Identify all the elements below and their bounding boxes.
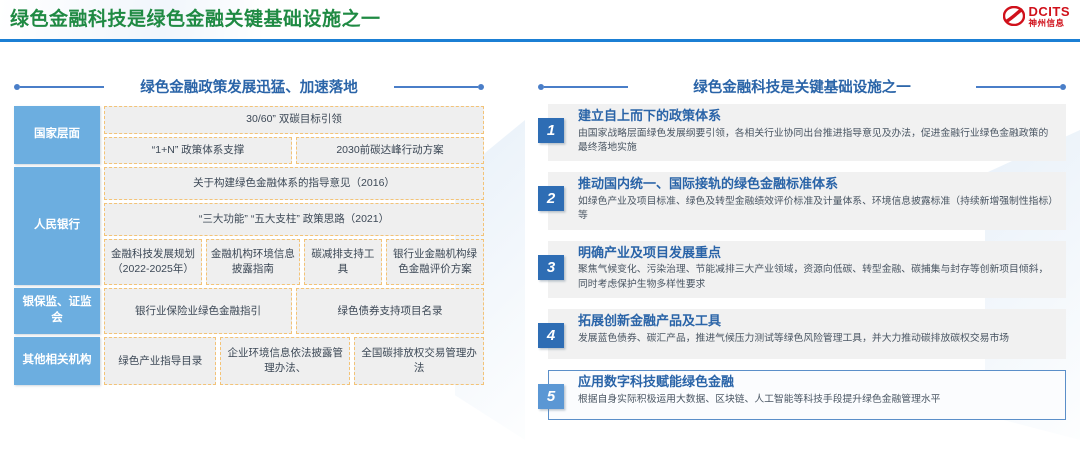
policy-table-row: 银保监、证监会银行业保险业绿色金融指引绿色债券支持项目名录 (14, 288, 484, 334)
item-number-badge: 2 (538, 186, 564, 211)
brand-logo: DCITS 神州信息 (1003, 5, 1071, 28)
policy-cell[interactable]: 银行业保险业绿色金融指引 (104, 288, 292, 334)
line-icon (20, 86, 104, 88)
item-text: 拓展创新金融产品及工具发展蓝色债券、碳汇产品，推进气候压力测试等绿色风险管理工具… (574, 309, 1066, 352)
policy-subrow: “三大功能” “五大支柱” 政策思路（2021） (104, 203, 484, 236)
item-number-badge: 1 (538, 118, 564, 143)
item-description: 根据自身实际积极运用大数据、区块链、人工智能等科技手段提升绿色金融管理水平 (578, 393, 1056, 407)
header-decoration-right (372, 84, 484, 90)
policy-table-row: 国家层面30/60” 双碳目标引领“1+N” 政策体系支撑2030前碳达峰行动方… (14, 106, 484, 164)
policy-row-label: 银保监、证监会 (14, 288, 100, 334)
right-panel-title: 绿色金融科技是关键基础设施之一 (679, 76, 925, 97)
infrastructure-list: 1建立自上而下的政策体系由国家战略层面绿色发展纲要引领，各相关行业协同出台推进指… (538, 104, 1066, 431)
policy-row-body: 银行业保险业绿色金融指引绿色债券支持项目名录 (104, 288, 484, 334)
policy-subrow: “1+N” 政策体系支撑2030前碳达峰行动方案 (104, 137, 484, 165)
policy-subrow: 30/60” 双碳目标引领 (104, 106, 484, 134)
policy-cell[interactable]: 全国碳排放权交易管理办法 (354, 337, 484, 385)
policy-cell[interactable]: 关于构建绿色金融体系的指导意见（2016） (104, 167, 484, 200)
left-panel-title: 绿色金融政策发展迅猛、加速落地 (126, 76, 372, 97)
item-title: 拓展创新金融产品及工具 (578, 313, 1056, 330)
item-description: 聚焦气候变化、污染治理、节能减排三大产业领域，资源向低碳、转型金融、碳捕集与封存… (578, 263, 1056, 291)
policy-cell[interactable]: 银行业金融机构绿色金融评价方案 (386, 239, 484, 285)
policy-table: 国家层面30/60” 双碳目标引领“1+N” 政策体系支撑2030前碳达峰行动方… (14, 106, 484, 388)
item-title: 应用数字科技赋能绿色金融 (578, 374, 1056, 391)
policy-cell[interactable]: “1+N” 政策体系支撑 (104, 137, 292, 165)
policy-subrow: 金融科技发展规划（2022-2025年）金融机构环境信息披露指南碳减排支持工具银… (104, 239, 484, 285)
dcits-swoosh-icon (1003, 6, 1025, 26)
policy-subrow: 关于构建绿色金融体系的指导意见（2016） (104, 167, 484, 200)
policy-cell[interactable]: 碳减排支持工具 (304, 239, 382, 285)
item-text: 建立自上而下的政策体系由国家战略层面绿色发展纲要引领，各相关行业协同出台推进指导… (574, 104, 1066, 161)
infrastructure-item[interactable]: 2推动国内统一、国际接轨的绿色金融标准体系如绿色产业及项目标准、绿色及转型金融绩… (538, 172, 1066, 229)
item-title: 推动国内统一、国际接轨的绿色金融标准体系 (578, 176, 1056, 193)
item-description: 发展蓝色债券、碳汇产品，推进气候压力测试等绿色风险管理工具，并大力推动碳排放碳权… (578, 332, 1056, 346)
item-number-badge: 4 (538, 323, 564, 348)
infrastructure-item[interactable]: 1建立自上而下的政策体系由国家战略层面绿色发展纲要引领，各相关行业协同出台推进指… (538, 104, 1066, 161)
item-text: 应用数字科技赋能绿色金融根据自身实际积极运用大数据、区块链、人工智能等科技手段提… (574, 370, 1066, 413)
item-title: 建立自上而下的政策体系 (578, 108, 1056, 125)
item-number-badge: 3 (538, 255, 564, 280)
title-divider (0, 39, 1080, 42)
policy-row-label: 人民银行 (14, 167, 100, 285)
line-icon (544, 86, 628, 88)
policy-row-label: 其他相关机构 (14, 337, 100, 385)
left-panel-header: 绿色金融政策发展迅猛、加速落地 (14, 76, 484, 97)
policy-cell[interactable]: 金融机构环境信息披露指南 (206, 239, 300, 285)
header-decoration-left (538, 84, 679, 90)
header-decoration-left (14, 84, 126, 90)
header-decoration-right (925, 84, 1066, 90)
policy-cell[interactable]: 30/60” 双碳目标引领 (104, 106, 484, 134)
item-title: 明确产业及项目发展重点 (578, 245, 1056, 262)
item-text: 明确产业及项目发展重点聚焦气候变化、污染治理、节能减排三大产业领域，资源向低碳、… (574, 241, 1066, 298)
policy-cell[interactable]: 绿色债券支持项目名录 (296, 288, 484, 334)
policy-cell[interactable]: 企业环境信息依法披露管理办法、 (220, 337, 350, 385)
logo-text-secondary: 神州信息 (1029, 19, 1071, 28)
infrastructure-item[interactable]: 4拓展创新金融产品及工具发展蓝色债券、碳汇产品，推进气候压力测试等绿色风险管理工… (538, 309, 1066, 359)
slide-title-bar: 绿色金融科技是绿色金融关键基础设施之一 (0, 0, 1080, 42)
policy-row-body: 绿色产业指导目录企业环境信息依法披露管理办法、全国碳排放权交易管理办法 (104, 337, 484, 385)
line-icon (976, 86, 1060, 88)
dot-icon (478, 84, 484, 90)
dot-icon (1060, 84, 1066, 90)
policy-cell[interactable]: “三大功能” “五大支柱” 政策思路（2021） (104, 203, 484, 236)
policy-subrow: 绿色产业指导目录企业环境信息依法披露管理办法、全国碳排放权交易管理办法 (104, 337, 484, 385)
policy-subrow: 银行业保险业绿色金融指引绿色债券支持项目名录 (104, 288, 484, 334)
policy-row-label: 国家层面 (14, 106, 100, 164)
item-description: 由国家战略层面绿色发展纲要引领，各相关行业协同出台推进指导意见及办法，促进金融行… (578, 127, 1056, 155)
item-number-badge: 5 (538, 384, 564, 409)
infrastructure-item[interactable]: 3明确产业及项目发展重点聚焦气候变化、污染治理、节能减排三大产业领域，资源向低碳… (538, 241, 1066, 298)
policy-table-row: 其他相关机构绿色产业指导目录企业环境信息依法披露管理办法、全国碳排放权交易管理办… (14, 337, 484, 385)
policy-cell[interactable]: 绿色产业指导目录 (104, 337, 216, 385)
policy-row-body: 关于构建绿色金融体系的指导意见（2016）“三大功能” “五大支柱” 政策思路（… (104, 167, 484, 285)
policy-cell[interactable]: 2030前碳达峰行动方案 (296, 137, 484, 165)
policy-row-body: 30/60” 双碳目标引领“1+N” 政策体系支撑2030前碳达峰行动方案 (104, 106, 484, 164)
policy-table-row: 人民银行关于构建绿色金融体系的指导意见（2016）“三大功能” “五大支柱” 政… (14, 167, 484, 285)
logo-text-primary: DCITS (1029, 5, 1071, 18)
policy-cell[interactable]: 金融科技发展规划（2022-2025年） (104, 239, 202, 285)
right-panel-header: 绿色金融科技是关键基础设施之一 (538, 76, 1066, 97)
line-icon (394, 86, 478, 88)
item-description: 如绿色产业及项目标准、绿色及转型金融绩效评价标准及计量体系、环境信息披露标准（持… (578, 195, 1056, 223)
page-title: 绿色金融科技是绿色金融关键基础设施之一 (10, 4, 381, 31)
item-text: 推动国内统一、国际接轨的绿色金融标准体系如绿色产业及项目标准、绿色及转型金融绩效… (574, 172, 1066, 229)
infrastructure-item[interactable]: 5应用数字科技赋能绿色金融根据自身实际积极运用大数据、区块链、人工智能等科技手段… (538, 370, 1066, 420)
